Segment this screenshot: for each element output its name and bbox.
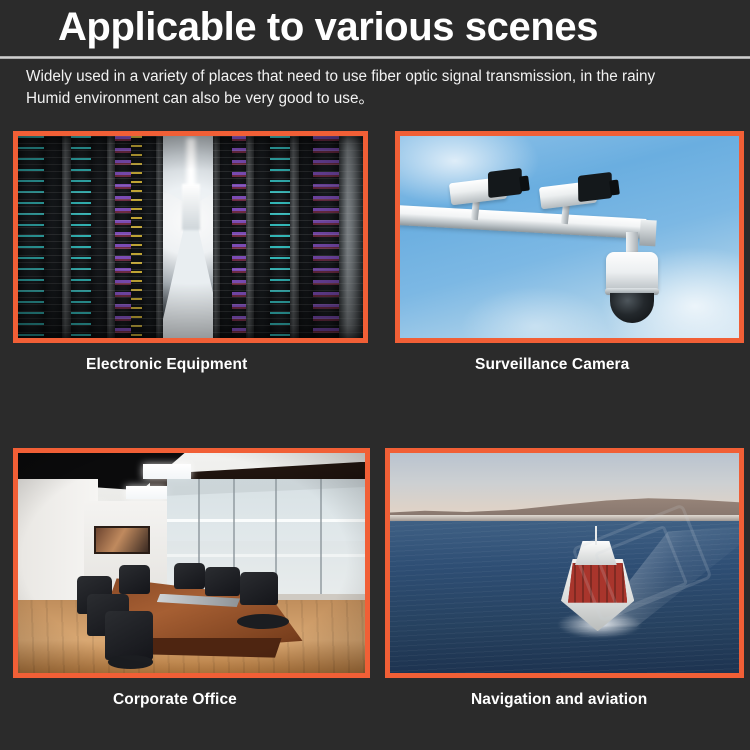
scene-caption: Corporate Office	[113, 691, 237, 709]
corporate-office-photo	[18, 453, 365, 673]
scene-caption: Surveillance Camera	[475, 356, 629, 374]
title-divider	[0, 56, 750, 59]
scene-card-electronic-equipment[interactable]: Electronic Equipment	[13, 131, 368, 343]
scene-caption: Navigation and aviation	[471, 691, 647, 709]
scene-image-frame[interactable]	[385, 448, 744, 678]
scene-card-navigation-aviation[interactable]: Navigation and aviation	[385, 448, 744, 678]
scene-card-surveillance-camera[interactable]: Surveillance Camera	[395, 131, 744, 343]
page-title-text: Applicable to various scenes	[0, 0, 750, 52]
page-title: Applicable to various scenes	[0, 0, 750, 52]
intro-line-1: Widely used in a variety of places that …	[26, 66, 750, 88]
dome-camera	[606, 252, 658, 292]
scene-image-frame[interactable]	[13, 448, 370, 678]
scene-image-frame[interactable]	[395, 131, 744, 343]
surveillance-camera-photo	[400, 136, 739, 338]
intro-line-2: Humid environment can also be very good …	[26, 88, 750, 110]
scene-image-frame[interactable]	[13, 131, 368, 343]
scene-caption: Electronic Equipment	[86, 356, 247, 374]
scene-card-corporate-office[interactable]: Corporate Office	[13, 448, 370, 678]
container-ship-photo	[390, 453, 739, 673]
intro-paragraph: Widely used in a variety of places that …	[26, 66, 750, 109]
data-center-photo	[18, 136, 363, 338]
